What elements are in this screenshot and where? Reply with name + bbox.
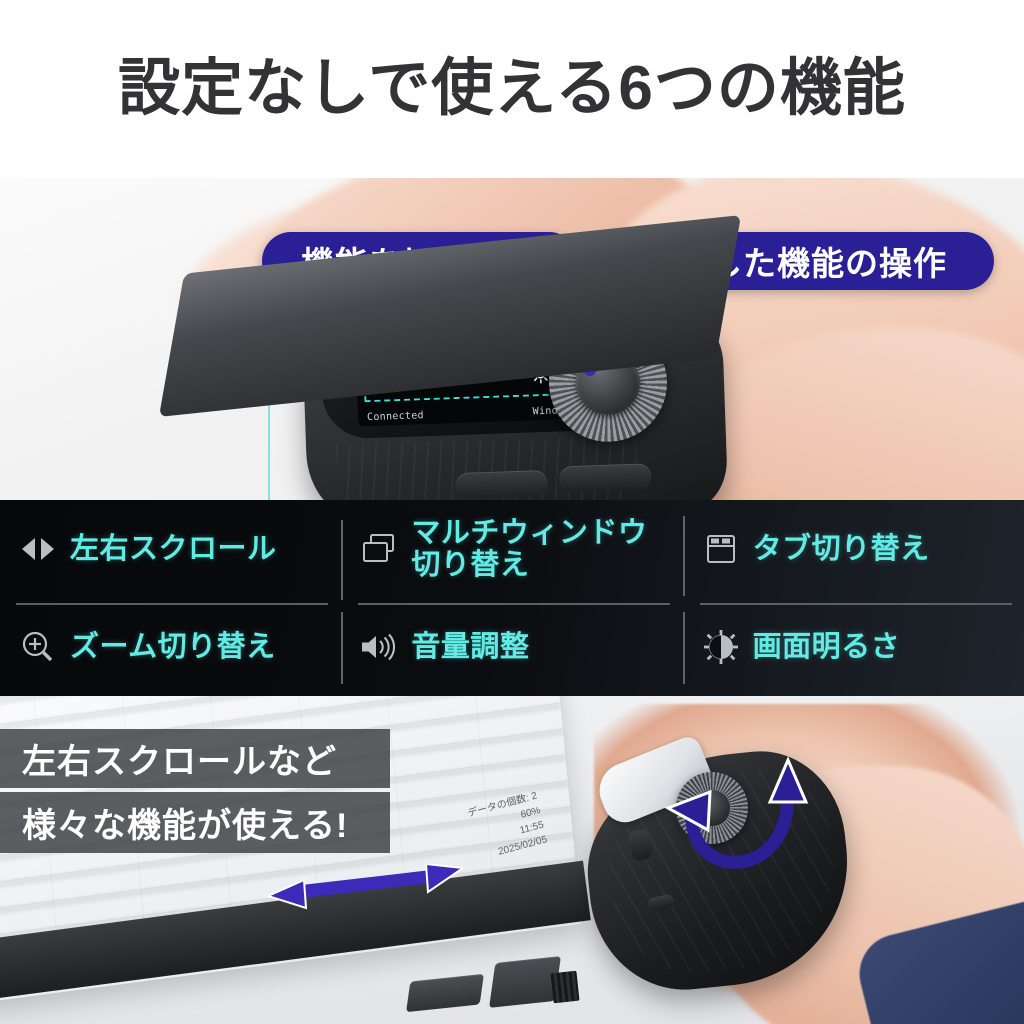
browser-tabs-icon [701,529,741,569]
feature-label: タブ切り替え [753,533,930,565]
caption-band-line2: 様々な機能が使える! [0,792,390,853]
rotation-arrow [640,730,830,910]
feature-label: 音量調整 [411,631,529,663]
brightness-sun-icon [701,627,741,667]
product-feature-infographic: 設定なしで使える6つの機能 DPI:1200 2.4G [0,0,1024,1024]
feature-list-panel: 左右スクロール マルチウィンドウ 切り替え [0,500,1024,696]
panel-divider-vertical [683,612,685,684]
mouse-side-button [559,463,652,492]
feature-item-left-right-scroll: 左右スクロール [0,500,341,598]
horizontal-scroll-arrow [268,864,463,910]
mouse-side-button [455,470,548,499]
feature-label: 画面明るさ [753,631,901,663]
page-title: 設定なしで使える6つの機能 [118,58,906,120]
caption-band-line1: 左右スクロールなど [0,729,390,788]
feature-label-line2: 切り替え [411,549,647,581]
usb-dongle [551,971,580,1004]
feature-label-line1: マルチウィンドウ [411,517,647,549]
panel-divider-vertical [683,516,685,596]
multi-window-icon [359,529,399,569]
connection-status: Connected [367,410,424,423]
feature-item-zoom-switch: ズーム切り替え [0,598,341,696]
feature-label: マルチウィンドウ 切り替え [411,517,647,582]
feature-item-multi-window-switch: マルチウィンドウ 切り替え [341,500,682,598]
left-right-arrows-icon [18,529,58,569]
panel-divider-vertical [341,520,343,600]
zoom-magnifier-icon [18,627,58,667]
keyboard-key [489,956,561,1008]
feature-label: 左右スクロール [70,533,277,565]
feature-item-tab-switch: タブ切り替え [683,500,1024,598]
panel-divider-horizontal [16,603,328,605]
caption-text: 左右スクロールなど [22,734,337,783]
header: 設定なしで使える6つの機能 [0,0,1024,178]
feature-item-screen-brightness: 画面明るさ [683,598,1024,696]
panel-divider-vertical [341,612,343,684]
panel-divider-horizontal [700,603,1012,605]
feature-item-volume-adjust: 音量調整 [341,598,682,696]
speaker-volume-icon [359,627,399,667]
panel-divider-horizontal [358,603,670,605]
caption-text: 様々な機能が使える! [22,798,348,847]
feature-label: ズーム切り替え [70,631,276,663]
